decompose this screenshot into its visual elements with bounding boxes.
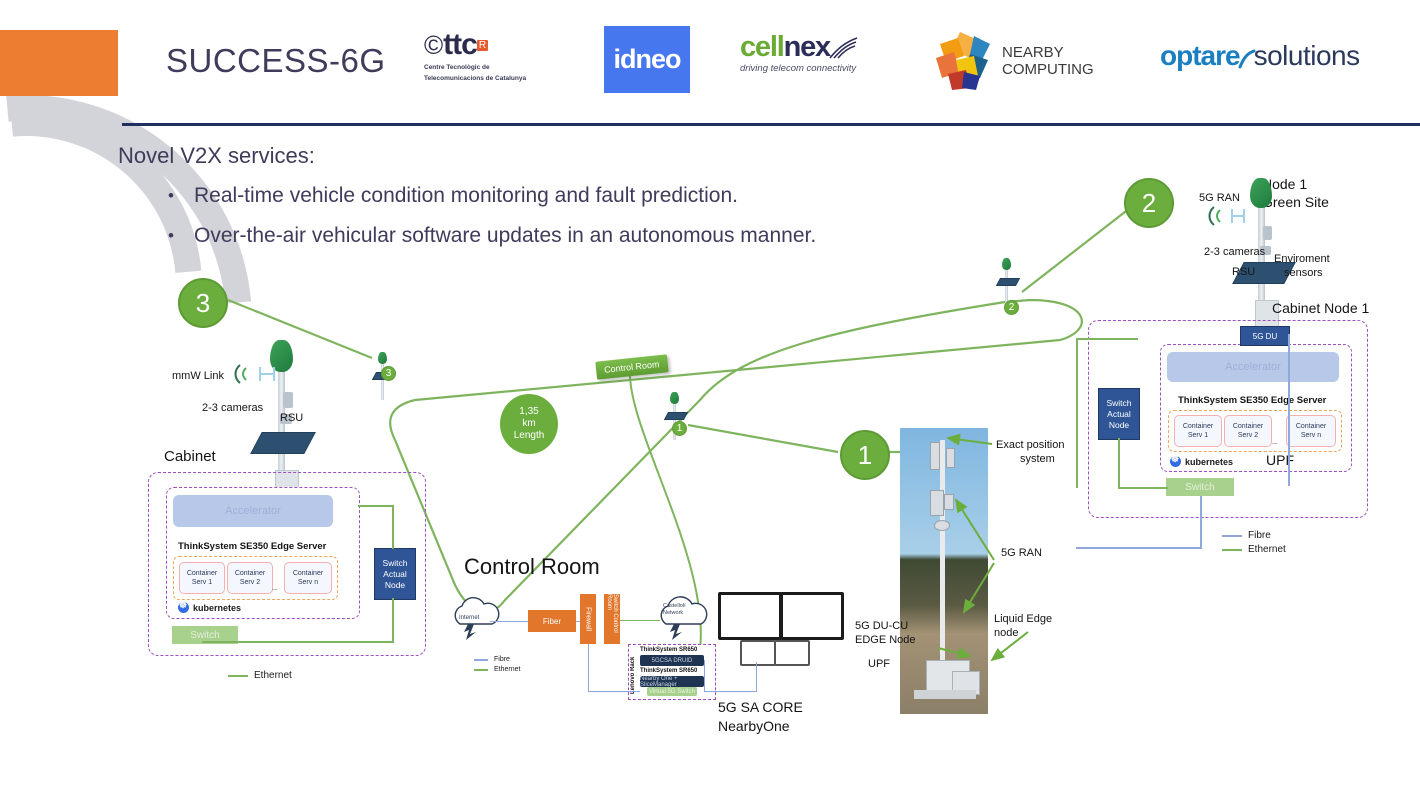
- route-length-unit: km: [522, 418, 535, 430]
- bullet-marker: •: [168, 223, 194, 249]
- route-pole-2: [994, 258, 1020, 306]
- node1-fibre-right: [1288, 334, 1290, 486]
- nearby-cube-icon: [930, 30, 992, 92]
- legend-swatch-fibre: [474, 659, 488, 661]
- monitor-right: [780, 592, 844, 640]
- control-room-legend: Fibre Ethernet: [474, 656, 520, 676]
- monitor-left: [718, 592, 782, 640]
- node1-edge-server-label: ThinkSystem SE350 Edge Server: [1178, 394, 1326, 407]
- cellnex-tagline: driving telecom connectivity: [740, 63, 898, 74]
- env-sensors-line1: Enviroment: [1274, 252, 1330, 266]
- logo-cellnex: cellnex driving telecom connectivity: [740, 32, 898, 90]
- node1-fibre-down: [1200, 496, 1202, 548]
- left-kubernetes-label: kubernetes: [193, 603, 241, 613]
- left-wire-top: [358, 505, 394, 507]
- logo-optare-solutions: optare solutions: [1160, 40, 1420, 84]
- orange-accent-block: [0, 30, 118, 96]
- kubernetes-icon: [178, 602, 189, 613]
- rack-item-2-extra: Virtual 5G Switch: [647, 687, 697, 696]
- node1-switch: Switch: [1166, 478, 1234, 496]
- rack-item-2-title: ThinkSystem SR650: [640, 668, 697, 674]
- fiber-block: Fiber: [528, 610, 576, 632]
- label-left-cameras: 2-3 cameras: [202, 402, 263, 415]
- label-mmw-link: mmW Link: [172, 370, 224, 383]
- photo-label-du-cu: 5G DU-CU EDGE Node: [855, 619, 916, 647]
- optare-word-part2: solutions: [1254, 40, 1360, 71]
- photo-label-liquid-edge: Liquid Edge node: [994, 612, 1052, 640]
- photo-dish: [934, 520, 950, 531]
- control-room-map-tag: Control Room: [595, 354, 668, 379]
- callout-badge-1: 1: [840, 430, 890, 480]
- legend-label-ethernet: Ethernet: [1248, 544, 1286, 555]
- ttc-registered-mark: R: [477, 40, 488, 51]
- bullet-text: Over-the-air vehicular software updates …: [194, 223, 816, 249]
- legend-label-ethernet: Ethernet: [494, 666, 520, 673]
- desk-monitor-left: [740, 640, 776, 666]
- node1-switch-actual-node: SwitchActualNode: [1098, 388, 1140, 440]
- du-cu-line2: EDGE Node: [855, 633, 916, 647]
- node1-wifi-icon: [1206, 204, 1252, 228]
- liquid-edge-line2: node: [994, 626, 1052, 640]
- liquid-edge-line1: Liquid Edge: [994, 612, 1052, 626]
- node1-wire-mid: [1118, 438, 1120, 488]
- pole-marker-2: 2: [1004, 300, 1019, 315]
- legend-swatch-ethernet: [474, 669, 488, 671]
- du-cu-line1: 5G DU-CU: [855, 619, 916, 633]
- label-cabinet-node1: Cabinet Node 1: [1272, 302, 1369, 315]
- photo-antenna-1: [930, 442, 940, 470]
- desk-monitor-right: [774, 640, 810, 666]
- wire-firewall-rack: [588, 691, 640, 692]
- legend-swatch-ethernet: [228, 675, 248, 677]
- optare-swoosh-icon: [1238, 49, 1256, 69]
- logo-nearby-computing: NEARBY COMPUTING: [930, 28, 1130, 94]
- node1-5g-du-box: 5G DU: [1240, 326, 1290, 346]
- signal-waves-icon: [826, 36, 860, 62]
- network-cloud-label: Castellolí Network: [663, 603, 686, 617]
- mmw-wifi-icon: [228, 362, 254, 388]
- photo-antenna-2: [946, 448, 955, 468]
- optare-word-part1: optare: [1160, 40, 1240, 71]
- legend-label-ethernet: Ethernet: [254, 670, 292, 681]
- node1-container-n: ContainerServ n: [1286, 415, 1336, 447]
- route-length-badge: 1,35 km Length: [500, 394, 558, 454]
- left-container-1: ContainerServ 1: [179, 562, 225, 594]
- route-length-value: 1,35: [519, 406, 538, 418]
- internet-cloud-label: Internet: [459, 612, 479, 625]
- core-line1: 5G SA CORE: [718, 698, 803, 717]
- node1-kubernetes-label: kubernetes: [1185, 457, 1233, 467]
- node1-container-2: ContainerServ 2: [1224, 415, 1272, 447]
- logo-idneo: idneo: [604, 26, 690, 93]
- page-title: SUCCESS-6G: [166, 42, 386, 80]
- label-env-sensors: Enviroment sensors: [1274, 252, 1330, 280]
- photo-radio-unit: [930, 490, 944, 516]
- legend-swatch-fibre: [1222, 535, 1242, 537]
- cellnex-word-part2: nex: [784, 31, 830, 63]
- bullet-text: Real-time vehicle condition monitoring a…: [194, 183, 738, 209]
- left-switch-actual-node: SwitchActualNode: [374, 548, 416, 600]
- photo-radio-unit-2: [944, 494, 954, 510]
- node1-legend: Fibre Ethernet: [1222, 530, 1286, 558]
- callout-badge-3: 3: [178, 278, 228, 328]
- wifi-arcs-icon: [228, 362, 258, 386]
- ttc-wordmark: ttc: [443, 28, 477, 61]
- rack-side-label: Lenovo Rack: [630, 652, 636, 694]
- left-wire-down: [392, 505, 394, 549]
- core-label: 5G SA CORE NearbyOne: [718, 668, 803, 736]
- label-node1-cameras: 2-3 cameras: [1204, 246, 1265, 259]
- cellnex-word-part1: cell: [740, 31, 784, 63]
- switch-control-room-block: Switch Control Room: [604, 594, 620, 644]
- ttc-subtitle-line1: Centre Tecnològic de: [424, 64, 572, 72]
- node1-wire-top: [1076, 338, 1138, 340]
- node1-wire-to-switch: [1118, 487, 1168, 489]
- left-container-n: ContainerServ n: [284, 562, 332, 594]
- exact-position-line2: system: [1020, 452, 1064, 466]
- label-left-rsu: RSU: [280, 412, 303, 425]
- pole-marker-1: 1: [672, 421, 687, 436]
- node1-upf-label: UPF: [1266, 454, 1294, 467]
- wire-firewall-down: [588, 644, 589, 692]
- left-wire-bottom: [202, 641, 394, 643]
- node1-kubernetes-badge: kubernetes: [1170, 456, 1233, 467]
- left-container-ellipsis: ...: [272, 582, 278, 595]
- core-line2: NearbyOne: [718, 717, 803, 736]
- bullet-list: • Real-time vehicle condition monitoring…: [168, 183, 1068, 263]
- nearby-line1: NEARBY: [1002, 44, 1094, 61]
- photo-label-upf: UPF: [868, 658, 890, 671]
- photo-label-5g-ran: 5G RAN: [1001, 547, 1042, 560]
- photo-concrete-pad: [914, 690, 976, 699]
- kubernetes-icon: [1170, 456, 1181, 467]
- left-edge-server-label: ThinkSystem SE350 Edge Server: [178, 540, 326, 553]
- pole-marker-3: 3: [381, 366, 396, 381]
- label-node1-rsu: RSU: [1232, 266, 1255, 279]
- route-length-word: Length: [514, 430, 545, 442]
- footer-bar: Financiado por la Unión Europea NextGene…: [0, 735, 1420, 799]
- bullet-marker: •: [168, 183, 194, 209]
- left-legend: Ethernet: [228, 670, 292, 684]
- legend-label-fibre: Fibre: [494, 656, 510, 663]
- network-cloud-icon: [652, 594, 722, 640]
- node1-container-1: ContainerServ 1: [1174, 415, 1222, 447]
- list-item: • Over-the-air vehicular software update…: [168, 223, 1068, 249]
- nearby-line2: COMPUTING: [1002, 61, 1094, 78]
- firewall-block: Firewall: [580, 594, 596, 644]
- left-container-2: ContainerServ 2: [227, 562, 273, 594]
- tower-photo: [900, 428, 988, 714]
- content-lead: Novel V2X services:: [118, 143, 315, 169]
- callout-badge-2: 2: [1124, 178, 1174, 228]
- mmw-antenna-icon: [256, 362, 296, 388]
- header-divider: [122, 123, 1420, 126]
- logo-ttc: ©ttcR Centre Tecnològic de Telecomunicac…: [424, 30, 572, 92]
- left-wire-down2: [392, 598, 394, 642]
- node1-accelerator: Accelerator: [1167, 352, 1339, 382]
- node1-wire-vert: [1076, 338, 1078, 488]
- legend-swatch-ethernet: [1222, 549, 1242, 551]
- leader-line-1: [688, 425, 838, 452]
- label-left-cabinet: Cabinet: [164, 450, 216, 463]
- control-room-title: Control Room: [464, 560, 600, 573]
- photo-tower-mast: [940, 440, 945, 690]
- slide-canvas: SUCCESS-6G ©ttcR Centre Tecnològic de Te…: [0, 0, 1420, 799]
- wire-rack-right: [704, 660, 705, 692]
- exact-position-line1: Exact position: [996, 438, 1064, 452]
- left-kubernetes-badge: kubernetes: [178, 602, 241, 613]
- rack-item-1-title: ThinkSystem SR650: [640, 647, 697, 653]
- rack-item-1-server: 5GCSA DRUID: [640, 655, 704, 666]
- list-item: • Real-time vehicle condition monitoring…: [168, 183, 1068, 209]
- left-accelerator: Accelerator: [173, 495, 333, 527]
- node1-fibre-out: [1076, 547, 1202, 549]
- env-sensors-line2: sensors: [1284, 266, 1330, 280]
- network-cloud-line2: Network: [663, 610, 686, 617]
- ttc-subtitle-line2: Telecomunicacions de Catalunya: [424, 75, 572, 83]
- wire-internet-fiber: [490, 621, 530, 622]
- legend-label-fibre: Fibre: [1248, 530, 1271, 541]
- photo-label-exact-position: Exact position system: [996, 438, 1064, 466]
- network-cloud-line1: Castellolí: [663, 603, 686, 610]
- node1-container-ellipsis: ...: [1272, 436, 1278, 449]
- rack-item-2-server: Nearby One + SliceManager: [640, 676, 704, 687]
